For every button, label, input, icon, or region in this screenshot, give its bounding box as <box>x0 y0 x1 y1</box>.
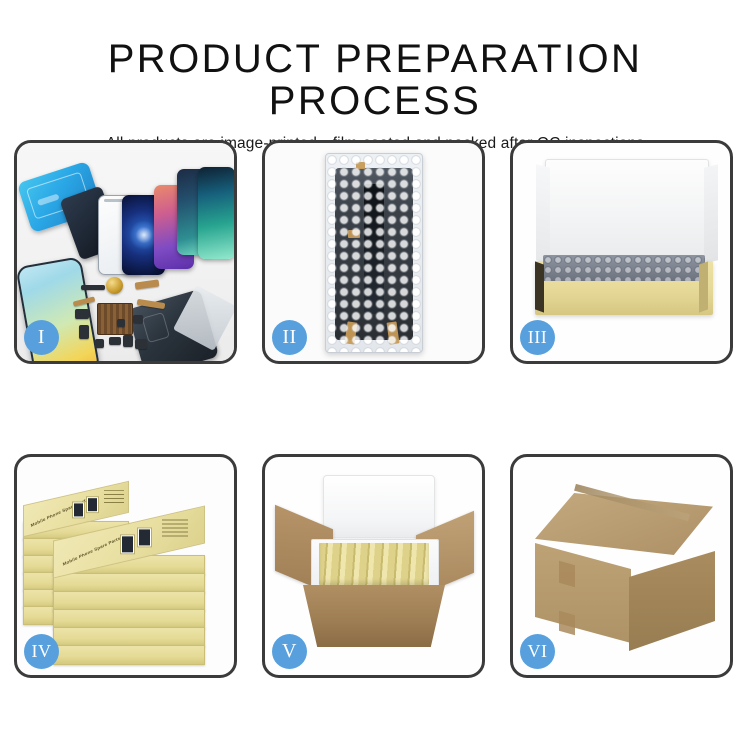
step-badge-6: VI <box>520 634 555 669</box>
gold-component <box>106 277 123 294</box>
box-thumbnail <box>137 527 152 547</box>
process-step-5[interactable]: V <box>262 454 485 678</box>
stacked-box <box>53 645 205 665</box>
bubble-texture <box>326 154 422 352</box>
carton-tape-lower <box>559 611 575 636</box>
stacked-box <box>53 609 205 629</box>
step-badge-2: II <box>272 320 307 355</box>
bubble-wrapped-contents <box>543 255 705 281</box>
stacked-box <box>53 573 205 593</box>
box-thumbnail <box>72 501 85 518</box>
step-badge-3: III <box>520 320 555 355</box>
process-step-6[interactable]: VI <box>510 454 733 678</box>
stacked-box <box>53 627 205 647</box>
process-step-2[interactable]: II <box>262 140 485 364</box>
logic-board-chip <box>97 303 133 335</box>
small-part <box>75 309 89 319</box>
box-thumbnail <box>120 534 135 554</box>
process-step-grid: I II III <box>14 140 736 678</box>
box-spec-text <box>104 490 124 505</box>
step-badge-4: IV <box>24 634 59 669</box>
box-thumbnail <box>86 496 99 513</box>
carton-body <box>303 585 445 647</box>
carton-tape-upper <box>559 561 575 588</box>
small-part <box>135 339 147 349</box>
page-title: PRODUCT PREPARATION PROCESS <box>0 0 750 122</box>
step-badge-5: V <box>272 634 307 669</box>
small-part <box>117 319 125 327</box>
stacked-box <box>53 591 205 611</box>
small-part <box>109 337 121 345</box>
process-step-3[interactable]: III <box>510 140 733 364</box>
small-part <box>95 339 104 348</box>
box-spec-text <box>162 519 188 537</box>
carton-front-face <box>535 543 631 643</box>
carton-side-face <box>629 551 715 651</box>
small-part <box>79 325 89 339</box>
process-step-4[interactable]: Mobile Phone Spare Parts Mobile Phone Sp… <box>14 454 237 678</box>
page-header: PRODUCT PREPARATION PROCESS All products… <box>0 0 750 153</box>
step-badge-1: I <box>24 320 59 355</box>
phone-teal-screen-2 <box>198 167 234 259</box>
small-part <box>81 285 105 290</box>
bubble-wrap-bag <box>325 153 423 353</box>
box-flap-left <box>535 261 544 312</box>
foam-box-lid <box>323 475 435 541</box>
packed-yellow-boxes <box>319 543 429 585</box>
box-label: Mobile Phone Spare Parts <box>62 536 121 567</box>
small-part <box>123 335 133 347</box>
box-flap-right <box>699 261 708 312</box>
process-step-1[interactable]: I <box>14 140 237 364</box>
small-part <box>133 315 143 323</box>
